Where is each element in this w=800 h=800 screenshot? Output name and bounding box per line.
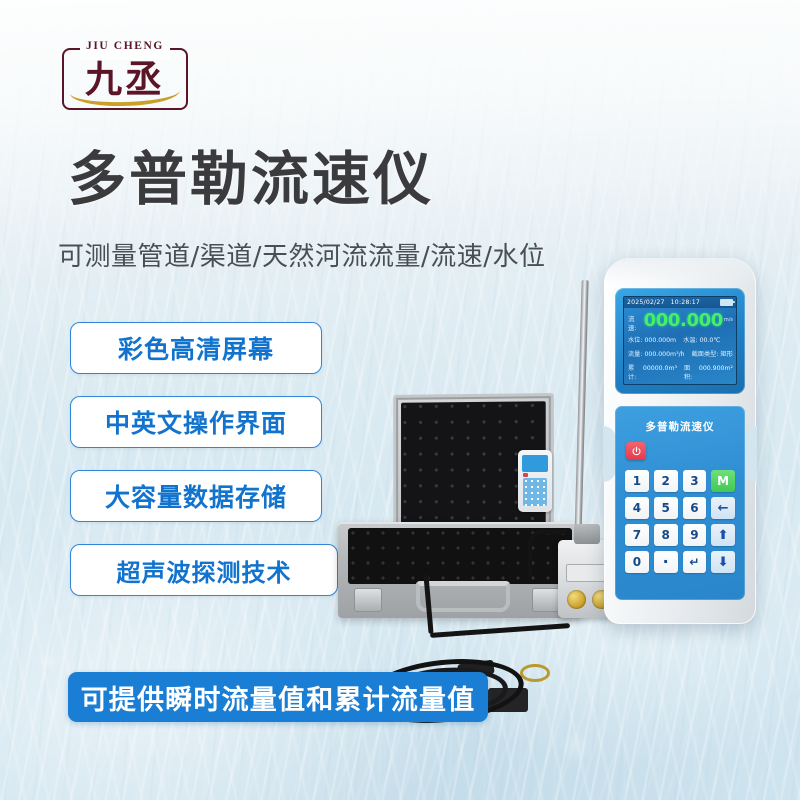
lcd-section-type-value: 矩形 — [720, 349, 732, 358]
feature-pill-data-storage: 大容量数据存储 — [70, 470, 322, 522]
key-up-arrow-icon[interactable]: ⬆ — [711, 524, 735, 546]
lcd-date: 2025/02/27 — [627, 299, 665, 306]
case-unit-screen — [522, 455, 548, 472]
lcd-time: 10:28:17 — [671, 299, 700, 306]
lcd-water-level-label: 水位: — [628, 335, 642, 344]
power-button[interactable] — [626, 442, 646, 460]
logo-english-text: JIU CHENG — [62, 40, 188, 52]
lcd-totalizer-label: 累计: — [628, 363, 641, 381]
page-subtitle: 可测量管道/渠道/天然河流流量/流速/水位 — [58, 240, 546, 274]
meter-grip-notch-right — [744, 426, 757, 482]
lcd-area: 面积: 000.900m² — [684, 363, 733, 381]
key-4[interactable]: 4 — [625, 497, 649, 519]
case-unit-keypad — [523, 478, 547, 506]
feature-pill-color-screen: 彩色高清屏幕 — [70, 322, 322, 374]
key-0[interactable]: 0 — [625, 551, 649, 573]
lcd-velocity-label: 流速: — [628, 314, 642, 332]
key-5[interactable]: 5 — [654, 497, 678, 519]
feature-pill-ultrasonic-tech: 超声波探测技术 — [70, 544, 338, 596]
case-latch-right — [532, 588, 560, 612]
lcd-row-total-area: 累计: 00000.0m³ 面积: 000.900m² — [628, 363, 733, 381]
lcd-status-bar: 2025/02/27 10:28:17 — [624, 297, 736, 308]
page-title: 多普勒流速仪 — [68, 146, 434, 212]
case-accessory-ring — [520, 664, 550, 682]
key-2[interactable]: 2 — [654, 470, 678, 492]
screen-bezel: 2025/02/27 10:28:17 流速: 000.000 m/s 水位: … — [615, 288, 745, 394]
lcd-totalizer: 累计: 00000.0m³ — [628, 363, 677, 381]
lcd-velocity-value: 000.000 — [644, 312, 723, 330]
bottom-highlight-banner: 可提供瞬时流量值和累计流量值 — [68, 672, 488, 722]
lcd-row-flow-section: 流量: 000.000m³/h 截面类型: 矩形 — [628, 349, 733, 358]
lcd-water-level-value: 000.000m — [644, 337, 676, 344]
lcd-water-temp-value: 00.0℃ — [700, 337, 721, 344]
case-unit-power-icon — [523, 473, 528, 477]
battery-icon — [720, 299, 733, 307]
key-enter-icon[interactable]: ↵ — [683, 551, 707, 573]
lcd-row-level-temp: 水位: 000.000m 水温: 00.0℃ — [628, 335, 733, 344]
lcd-area-value: 000.900m² — [699, 365, 733, 372]
case-handheld-unit — [518, 450, 552, 512]
product-poster: JIU CHENG 九丞 多普勒流速仪 可测量管道/渠道/天然河流流量/流速/水… — [0, 0, 800, 800]
meter-control-panel: 多普勒流速仪 1 2 3 M 4 5 6 ← 7 8 9 ⬆ 0 — [615, 406, 745, 600]
lcd-section-type-label: 截面类型: — [692, 349, 719, 358]
lcd-water-temp: 水温: 00.0℃ — [683, 335, 720, 344]
lcd-water-level: 水位: 000.000m — [628, 335, 676, 344]
lcd-display: 2025/02/27 10:28:17 流速: 000.000 m/s 水位: … — [623, 296, 737, 385]
key-7[interactable]: 7 — [625, 524, 649, 546]
key-9[interactable]: 9 — [683, 524, 707, 546]
lcd-flow-rate-value: 000.000m³/h — [644, 351, 684, 358]
lcd-flow-rate-label: 流量: — [628, 349, 642, 358]
case-latch-left — [354, 588, 382, 612]
numeric-keypad: 1 2 3 M 4 5 6 ← 7 8 9 ⬆ 0 · ↵ ⬇ — [625, 470, 735, 573]
meter-model-label: 多普勒流速仪 — [615, 419, 745, 434]
lcd-area-label: 面积: — [684, 363, 697, 381]
lcd-totalizer-value: 00000.0m³ — [643, 365, 677, 372]
key-3[interactable]: 3 — [683, 470, 707, 492]
key-1[interactable]: 1 — [625, 470, 649, 492]
lcd-velocity-unit: m/s — [724, 317, 733, 323]
feature-list: 彩色高清屏幕 中英文操作界面 大容量数据存储 超声波探测技术 — [70, 322, 338, 596]
lcd-velocity-row: 流速: 000.000 m/s — [628, 312, 733, 337]
handheld-flow-meter: 2025/02/27 10:28:17 流速: 000.000 m/s 水位: … — [604, 258, 756, 624]
key-8[interactable]: 8 — [654, 524, 678, 546]
key-down-arrow-icon[interactable]: ⬇ — [711, 551, 735, 573]
cable-run-horizontal — [430, 623, 570, 638]
lcd-section-type: 截面类型: 矩形 — [692, 349, 733, 358]
brand-logo: JIU CHENG 九丞 — [62, 48, 188, 110]
transducer-left-icon — [567, 590, 586, 609]
sensor-rod-clamp — [574, 524, 600, 544]
lcd-flow-rate: 流量: 000.000m³/h — [628, 349, 685, 358]
sensor-cable — [528, 530, 566, 578]
key-memory[interactable]: M — [711, 470, 735, 492]
key-6[interactable]: 6 — [683, 497, 707, 519]
meter-top-housing — [604, 258, 756, 284]
key-decimal-point[interactable]: · — [654, 551, 678, 573]
feature-pill-bilingual-ui: 中英文操作界面 — [70, 396, 322, 448]
key-left-arrow-icon[interactable]: ← — [711, 497, 735, 519]
power-icon — [631, 446, 642, 457]
lcd-water-temp-label: 水温: — [683, 335, 697, 344]
